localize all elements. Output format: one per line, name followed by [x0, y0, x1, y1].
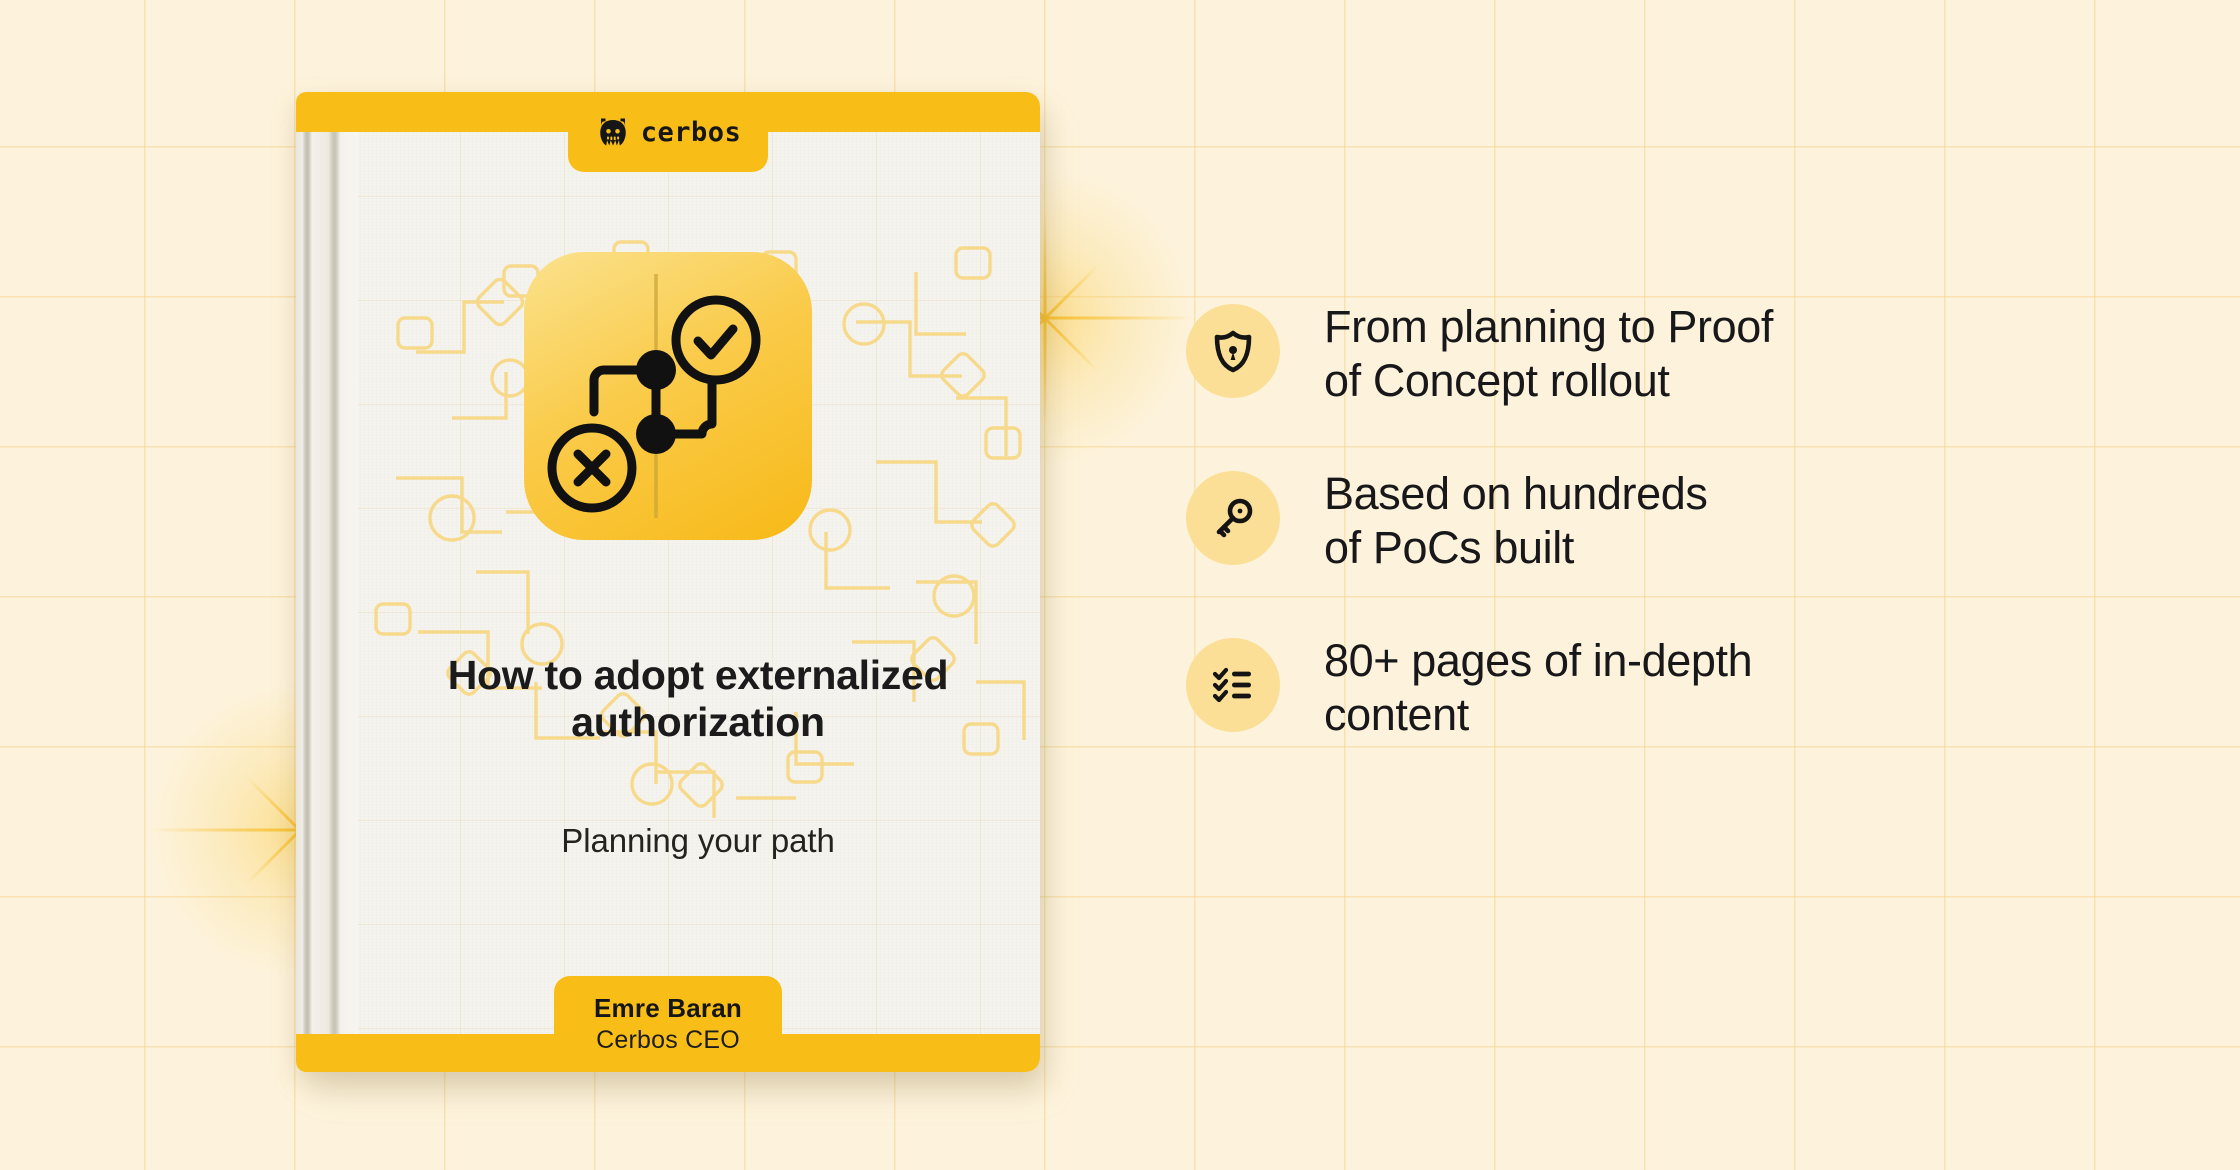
feature-line: From planning to Proof [1324, 300, 1773, 354]
ebook-cover[interactable]: cerbos How to adopt external [296, 92, 1040, 1072]
cover-title-line-2: externalized [715, 652, 948, 698]
book-body: cerbos How to adopt external [296, 92, 1040, 1072]
checklist-icon [1186, 638, 1280, 732]
cover-subtitle: Planning your path [356, 822, 1040, 860]
feature-line: content [1324, 688, 1752, 742]
cerbos-mascot-icon [595, 114, 631, 150]
cover-title-line-3: authorization [571, 699, 824, 745]
feature-item-pages: 80+ pages of in-depth content [1186, 634, 1773, 743]
feature-text-planning: From planning to Proof of Concept rollou… [1324, 300, 1773, 409]
feature-line: of Concept rollout [1324, 354, 1773, 408]
book-spine [296, 92, 358, 1072]
brand-logo-text: cerbos [641, 117, 742, 148]
feature-text-pages: 80+ pages of in-depth content [1324, 634, 1752, 743]
cover-title-line-1: How to adopt [448, 652, 704, 698]
brand-logo-tab: cerbos [568, 92, 768, 172]
cover-title: How to adopt externalized authorization [356, 652, 1040, 745]
hero-decision-tile [524, 252, 812, 540]
feature-item-planning: From planning to Proof of Concept rollou… [1186, 300, 1773, 409]
check-circle-icon [676, 300, 756, 380]
feature-line: Based on hundreds [1324, 467, 1708, 521]
feature-item-pocs: Based on hundreds of PoCs built [1186, 467, 1773, 576]
key-icon [1186, 471, 1280, 565]
author-tab: Emre Baran Cerbos CEO [554, 976, 782, 1072]
feature-line: 80+ pages of in-depth [1324, 634, 1752, 688]
shield-keyhole-icon [1186, 304, 1280, 398]
feature-list: From planning to Proof of Concept rollou… [1186, 300, 1773, 743]
feature-line: of PoCs built [1324, 521, 1708, 575]
feature-text-pocs: Based on hundreds of PoCs built [1324, 467, 1708, 576]
author-role: Cerbos CEO [596, 1026, 740, 1055]
author-name: Emre Baran [594, 993, 742, 1024]
